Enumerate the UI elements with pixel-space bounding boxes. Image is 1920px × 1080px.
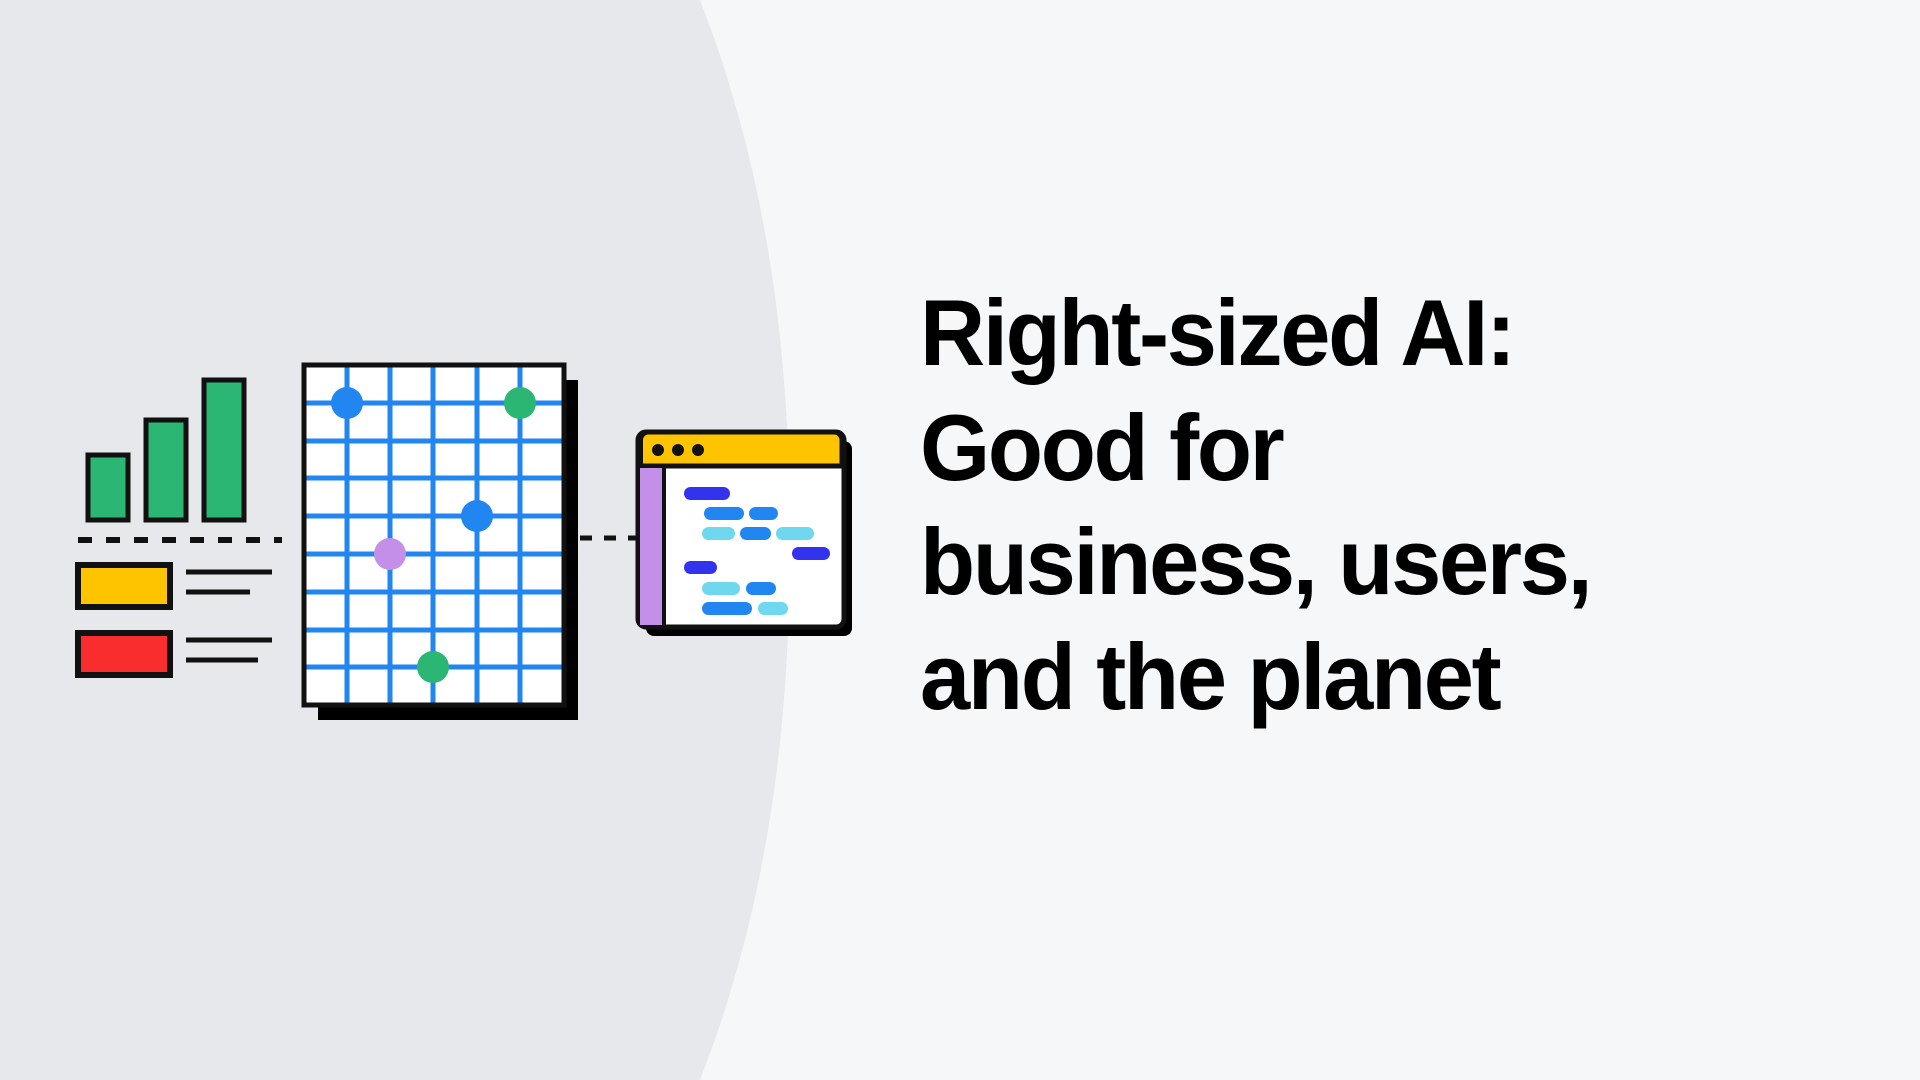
bar-2 [146,420,186,520]
legend-swatch-red [78,633,170,675]
code-token [702,527,735,540]
poster-canvas: Right-sized AI: Good for business, users… [0,0,1920,1080]
code-token [776,527,814,540]
code-token [758,602,788,615]
bar-3 [204,380,244,520]
code-token [740,527,771,540]
illustration-group [0,0,900,1080]
legend-swatch-yellow [78,565,170,607]
code-window-titlebar [641,432,843,466]
point-blue-1 [331,387,363,419]
point-blue-2 [461,500,493,532]
point-purple-1 [374,538,406,570]
legend-item-red [78,633,272,675]
code-token [704,507,744,520]
scatter-plot-grid [304,365,578,720]
code-token [746,582,776,595]
point-green-2 [417,651,449,683]
bar-1 [88,455,128,520]
headline-block: Right-sized AI: Good for business, users… [920,276,1820,735]
code-window-sidebar [640,468,662,625]
code-window-mock [638,432,852,636]
growth-bar-chart [88,380,244,520]
window-dot-3-icon [692,444,704,456]
page-title: Right-sized AI: Good for business, users… [920,276,1784,735]
legend-item-yellow [78,565,272,607]
code-token [684,487,730,500]
point-green-1 [504,387,536,419]
code-token [684,561,717,574]
code-token [702,582,740,595]
code-token [749,507,778,520]
window-dot-2-icon [672,444,684,456]
window-dot-1-icon [652,444,664,456]
code-token [792,547,830,560]
code-token [702,602,752,615]
